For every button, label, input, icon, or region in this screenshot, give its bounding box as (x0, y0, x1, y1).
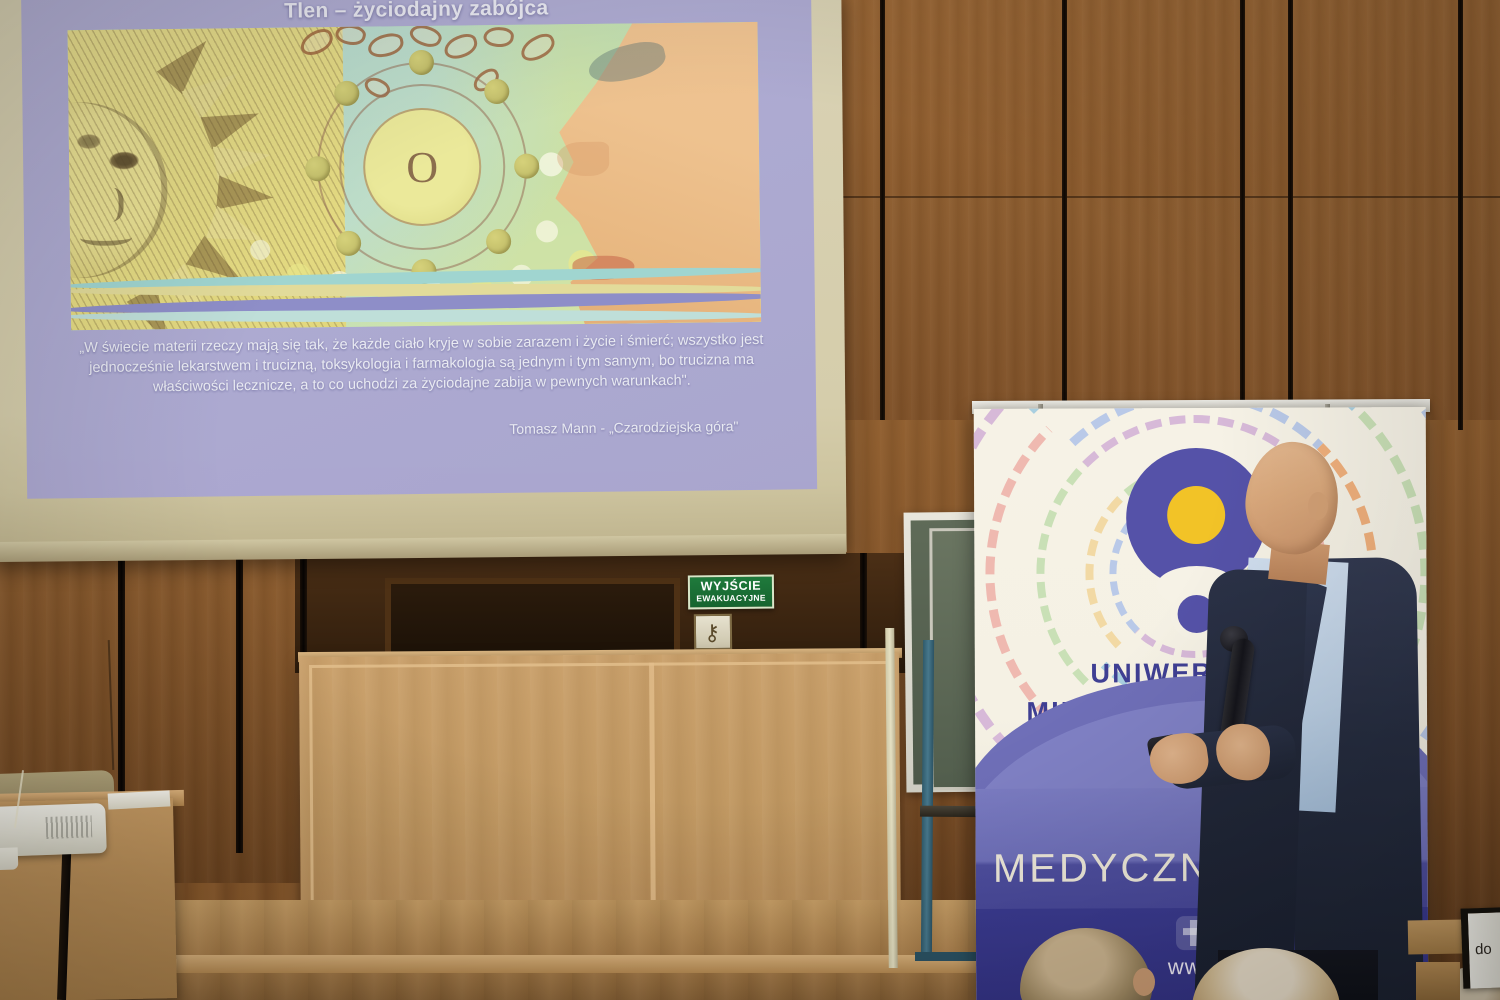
panel-seam (835, 196, 1500, 198)
side-bench (1408, 920, 1465, 955)
easel-foot (915, 952, 985, 961)
wave-band (70, 264, 761, 330)
emergency-key-box[interactable]: ⚷ (694, 614, 732, 650)
wall-groove (1288, 0, 1293, 420)
ear (1308, 492, 1328, 520)
presenter-head (1240, 437, 1343, 558)
emergency-exit-sign: WYJŚCIE EWAKUACYJNE (688, 575, 774, 610)
oxygen-atom-diagram: O (316, 61, 529, 274)
wall-groove (236, 553, 243, 853)
lecture-hall-photo: Tlen – życiodajny zabójca (0, 0, 1500, 1000)
wall-groove (300, 553, 307, 663)
audience-ear (1133, 968, 1155, 996)
podium-inset-frame (309, 661, 891, 927)
exit-sign-line1: WYJŚCIE (701, 580, 762, 594)
wall-groove (880, 0, 885, 420)
exit-sign-line2: EWAKUACYJNE (696, 593, 766, 605)
wall-groove (1062, 0, 1067, 420)
side-sign: do (1461, 907, 1500, 988)
wall-groove (1458, 0, 1463, 430)
projector-foot (0, 847, 18, 870)
upper-wood-panel (835, 0, 1500, 420)
slide-illustration: O (68, 22, 762, 330)
easel-post (921, 640, 934, 960)
side-bench-lower (1416, 962, 1460, 1000)
projected-slide: Tlen – życiodajny zabójca (21, 0, 817, 499)
side-sign-text: do (1475, 941, 1492, 959)
slide-attribution: Tomasz Mann - „Czarodziejska góra" (26, 418, 738, 443)
nucleus-label: O (362, 107, 481, 226)
wall-groove (1240, 0, 1245, 420)
slide-quote: „W świecie materii rzeczy mają się tak, … (51, 329, 792, 398)
projector-vent (46, 815, 93, 839)
presenter (1180, 430, 1440, 1000)
loose-papers (108, 790, 171, 809)
key-icon: ⚷ (704, 620, 720, 646)
